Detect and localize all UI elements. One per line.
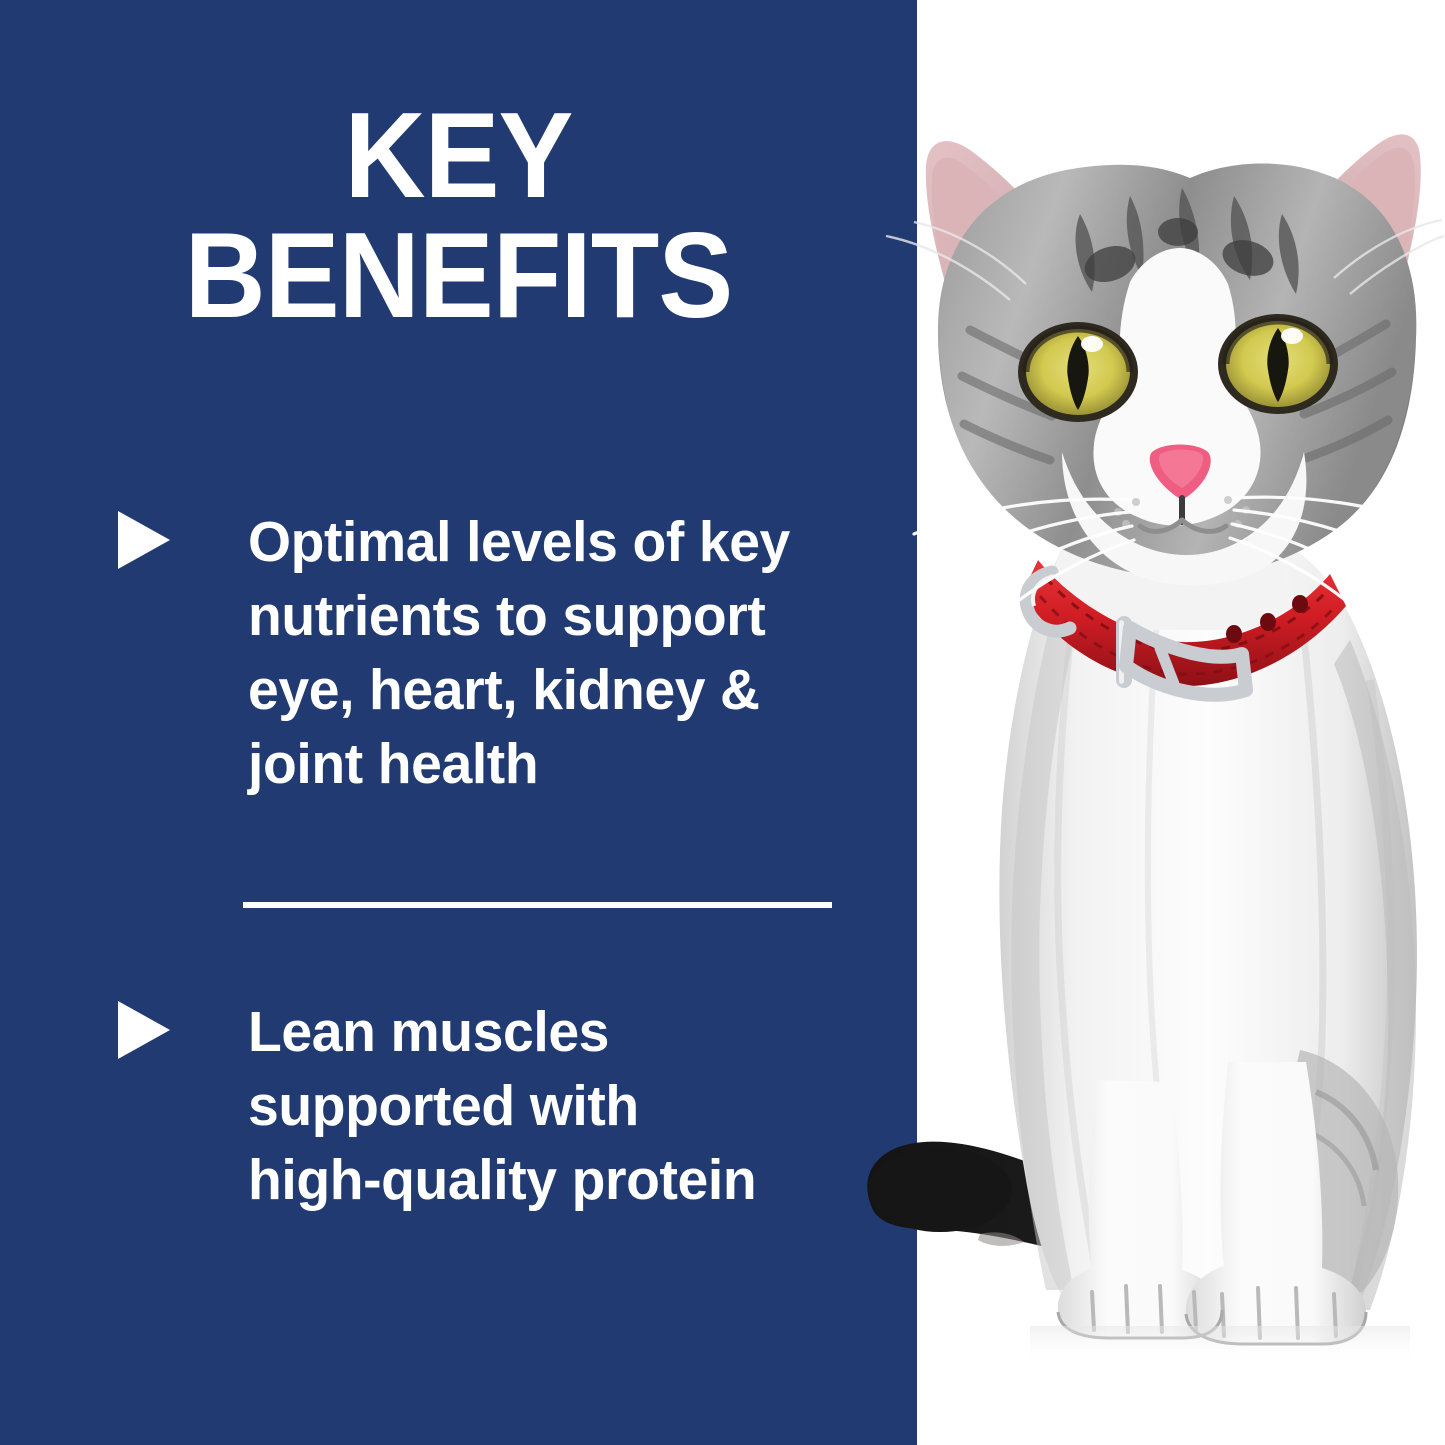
cat-eye-left — [1018, 322, 1138, 422]
page-title: KEY BENEFITS — [37, 96, 881, 335]
key-benefits-banner: KEY BENEFITS Optimal levels of key nutri… — [0, 0, 1445, 1445]
benefit-item-1: Optimal levels of key nutrients to suppo… — [118, 505, 878, 801]
cat-photo — [830, 0, 1445, 1445]
benefit-item-1-label: Optimal levels of key nutrients to suppo… — [248, 505, 790, 801]
benefits-divider — [243, 902, 832, 908]
benefit-item-2: Lean muscles supported with high-quality… — [118, 995, 878, 1217]
play-triangle-icon — [118, 1001, 170, 1059]
benefit-item-2-label: Lean muscles supported with high-quality… — [248, 995, 756, 1217]
cat-eye-right — [1218, 314, 1338, 414]
play-triangle-icon — [118, 511, 170, 569]
cat-head — [886, 134, 1445, 640]
